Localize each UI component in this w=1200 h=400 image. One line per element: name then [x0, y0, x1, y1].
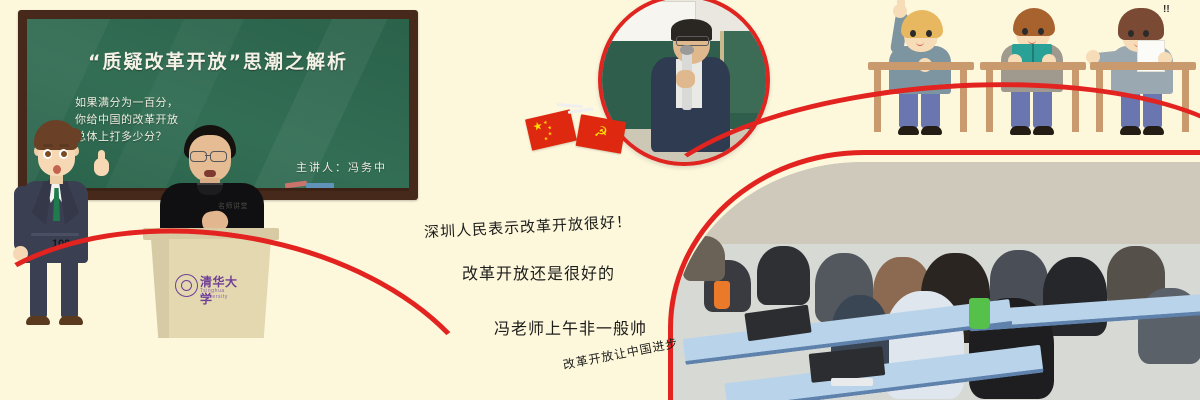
handwriting-line-2: 改革开放还是很好的 — [462, 260, 615, 284]
phone-icon — [831, 378, 873, 387]
student1-pointing-finger — [897, 0, 905, 10]
student1-hair — [901, 10, 943, 38]
student3-eye-right — [1143, 30, 1149, 37]
handwriting-line-3: 冯老师上午非一般帅 — [494, 315, 647, 339]
student3-hair — [1118, 8, 1164, 40]
blackboard-title: “质疑改革开放”思潮之解析 — [27, 47, 409, 74]
flag-pole-cpc — [568, 107, 594, 114]
subtitle-line-1: 如果满分为一百分， — [75, 95, 179, 112]
cartoon-left-arm — [14, 186, 30, 252]
handwriting-line-1: 深圳人民表示改革开放很好！ — [424, 211, 633, 243]
student3-desk — [1090, 62, 1196, 70]
student2-eye-right — [1038, 28, 1044, 35]
student1-eye-left — [910, 30, 916, 37]
surprise-mark-icon: !! — [1163, 4, 1170, 15]
cartoon-eyebrow-right — [59, 144, 69, 147]
cartoon-mouth — [53, 165, 61, 174]
cartoon-eye-right — [59, 149, 68, 159]
cartoon-hair — [34, 120, 78, 150]
lecturer-glasses-bridge — [205, 155, 210, 156]
cartoon-suit-seam — [31, 233, 79, 236]
lecturer-mouth — [204, 170, 216, 177]
photo-watermark: 名师讲堂 — [218, 201, 248, 211]
handwriting-line-4: 改革开放让中国进步 — [561, 334, 679, 373]
lecturer-glasses-right — [210, 151, 227, 162]
flag-pole-cn — [557, 103, 583, 108]
speaker-hand — [676, 70, 696, 88]
cartoon-pointing-hand — [94, 158, 109, 176]
blackboard-credit: 主讲人：冯务中 — [296, 159, 387, 175]
speaker-glasses — [676, 36, 709, 46]
student1-desk — [868, 62, 974, 70]
lecturer-photo: 名师讲堂 — [152, 125, 274, 230]
student1-eye-right — [926, 30, 932, 37]
cartoon-eyebrow-left — [43, 144, 53, 147]
lecturer-glasses-left — [190, 151, 207, 162]
student2-eye-left — [1022, 28, 1028, 35]
china-national-flag: ★ ★ ★ ★ ★ — [525, 109, 577, 151]
student2-desk — [980, 62, 1086, 70]
banner-canvas: “质疑改革开放”思潮之解析 如果满分为一百分， 你给中国的改革开放 总体上打多少… — [0, 0, 1200, 400]
hammer-sickle-icon: ☭ — [593, 124, 612, 144]
student3-eye-left — [1128, 30, 1134, 37]
student2-hair — [1013, 8, 1055, 36]
cpc-party-flag: ☭ — [576, 114, 627, 154]
cartoon-eye-left — [43, 149, 52, 159]
